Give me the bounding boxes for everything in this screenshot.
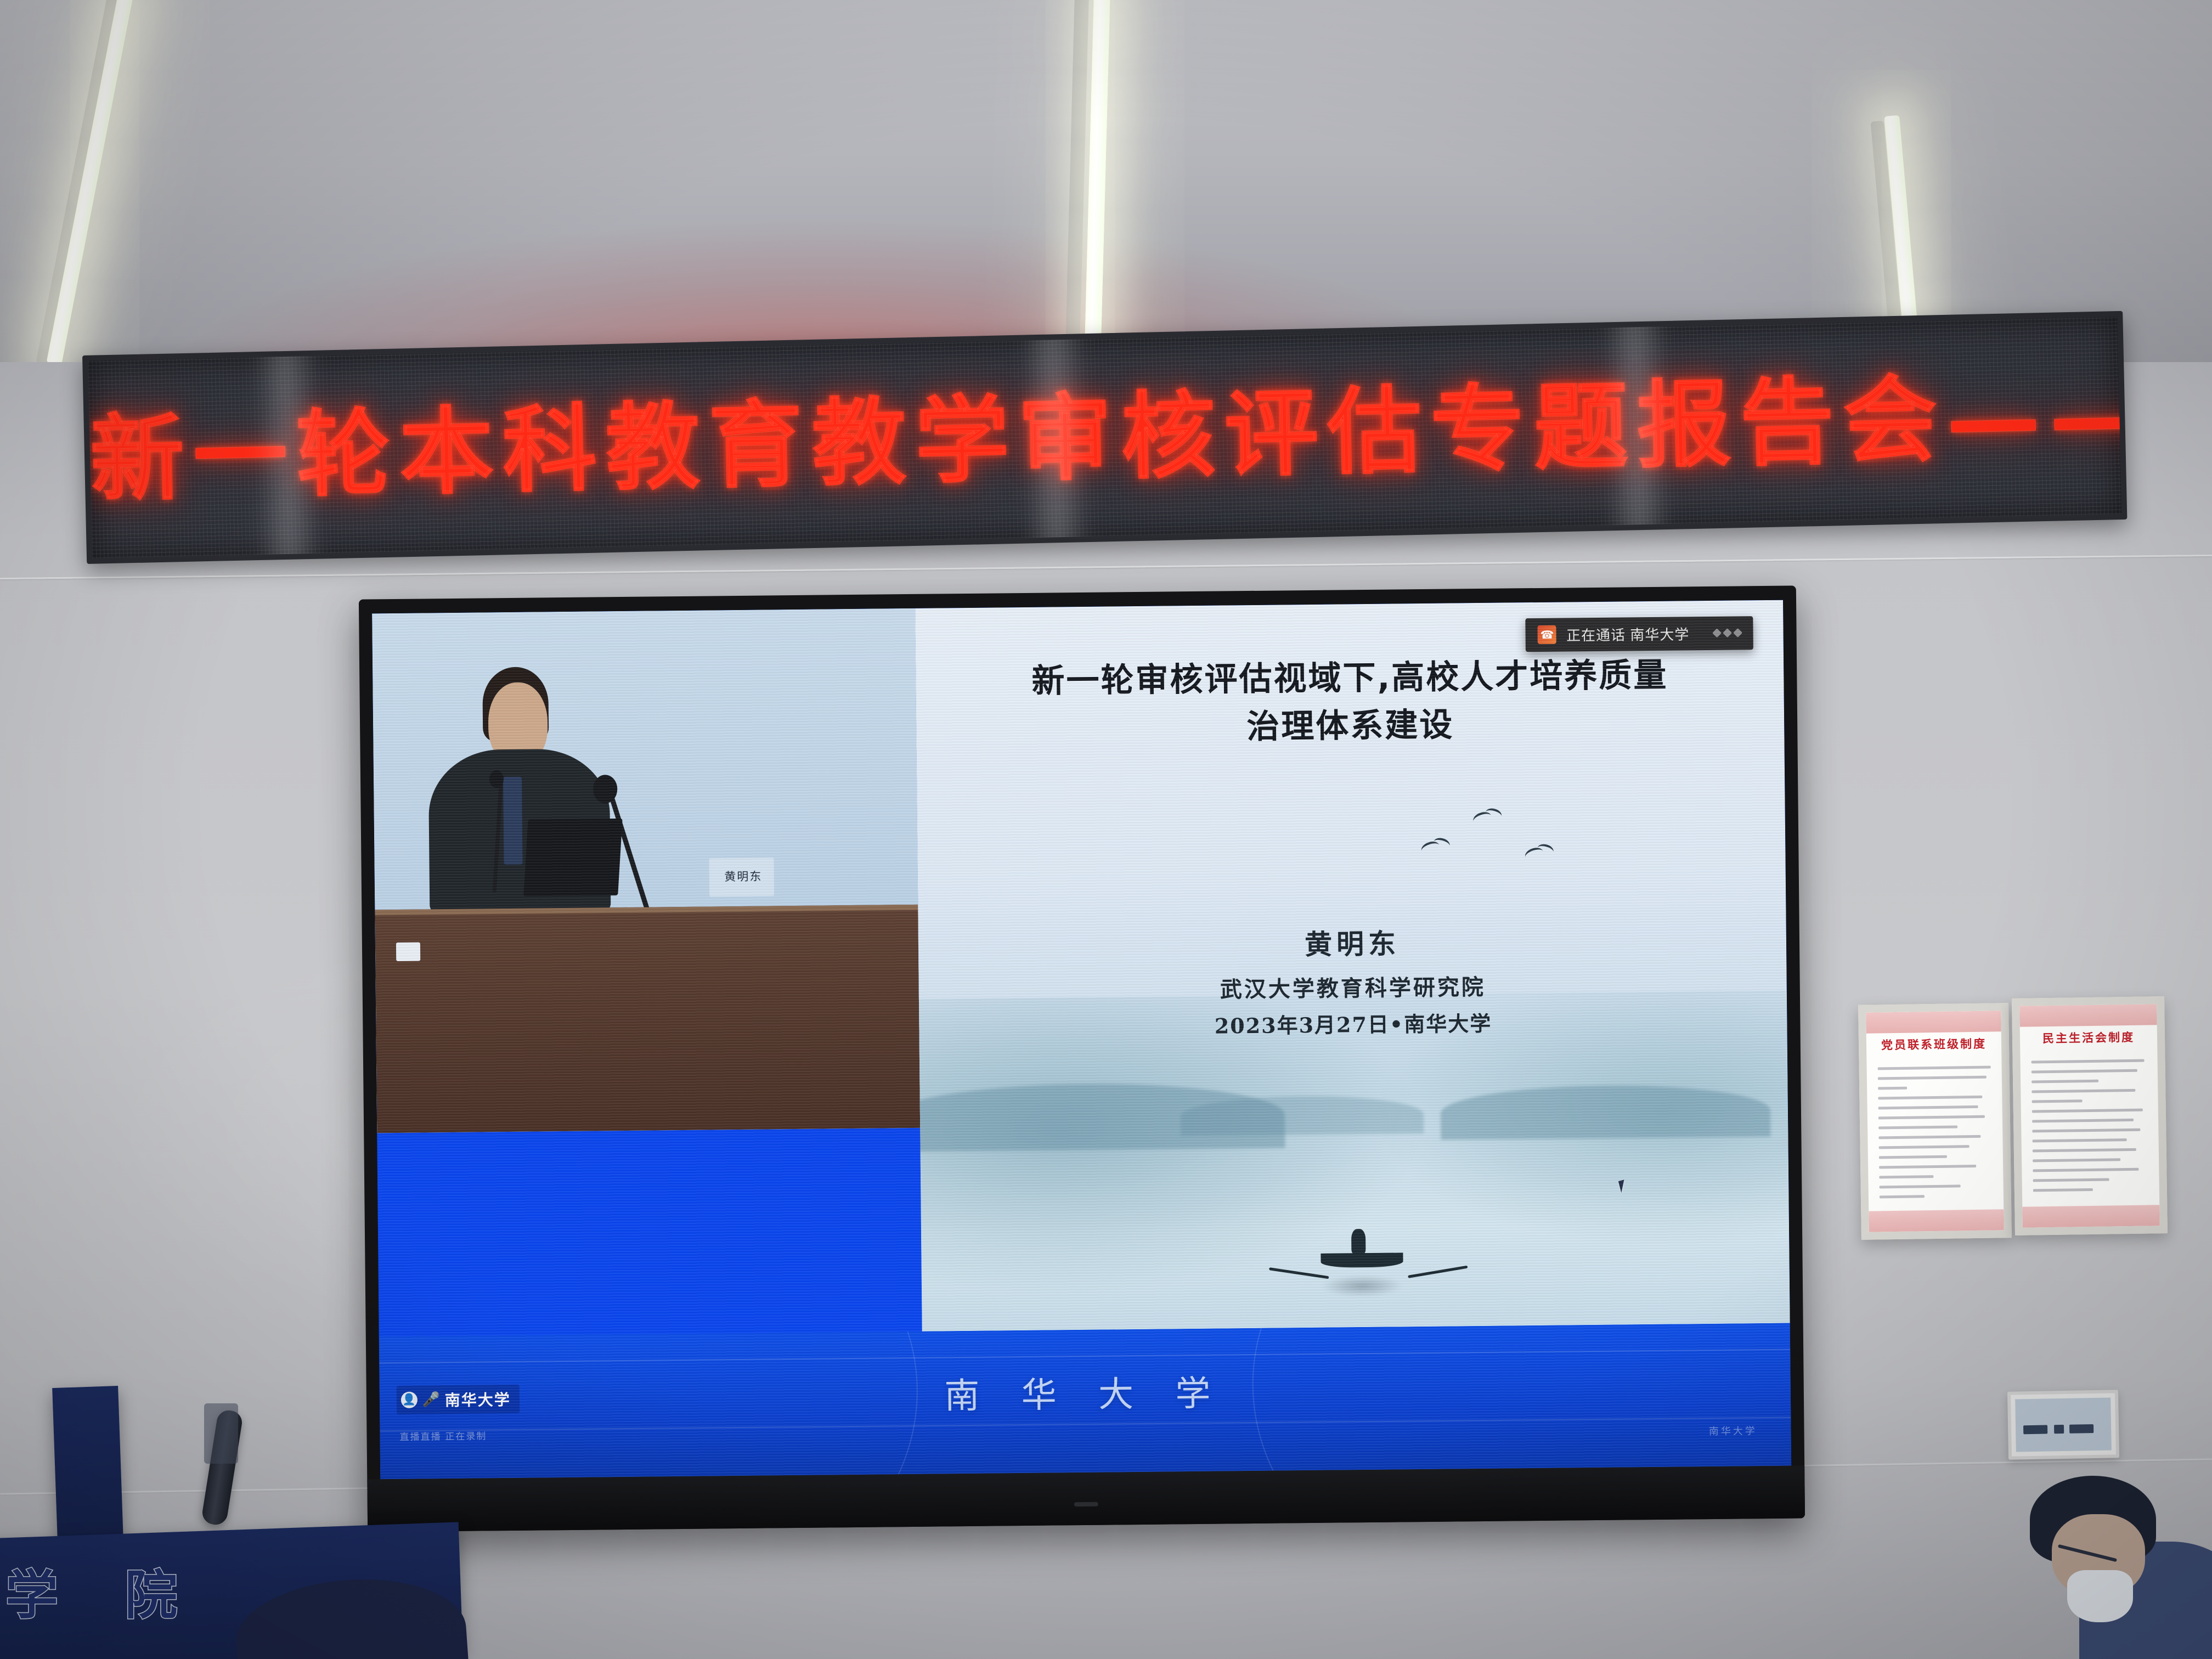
display-power-led bbox=[1074, 1502, 1098, 1506]
phone-icon: ☎ bbox=[1538, 625, 1556, 644]
poster-2-top-band bbox=[2019, 1004, 2157, 1026]
slide-title-line-1: 新一轮审核评估视域下,高校人才培养质量 bbox=[950, 651, 1749, 707]
participant-label[interactable]: 👤 🎤 南华大学 bbox=[397, 1385, 520, 1414]
venue-label-left: 学 院 bbox=[5, 1553, 201, 1629]
call-status-text: 正在通话 南华大学 bbox=[1566, 623, 1690, 645]
speaker-tie bbox=[503, 777, 523, 865]
footer-brand: 南华大学 bbox=[1709, 1423, 1757, 1438]
microphone-icon: 🎤 bbox=[424, 1391, 438, 1408]
slide-affiliation: 武汉大学教育科学研究院 bbox=[919, 966, 1787, 1006]
led-glare-3 bbox=[1601, 311, 1673, 558]
equipment-panel-left bbox=[52, 1386, 123, 1542]
boat-oar-right bbox=[1408, 1265, 1468, 1278]
slide-title-line-2: 治理体系建设 bbox=[951, 699, 1750, 754]
poster-2-body bbox=[2032, 1059, 2148, 1199]
poster-2-bottom-band bbox=[2022, 1205, 2160, 1227]
slide-ink-painting bbox=[919, 990, 1790, 1331]
control-switch-2[interactable] bbox=[2054, 1425, 2064, 1434]
microphone-wall-clip bbox=[204, 1403, 238, 1464]
led-banner: 新一轮本科教育教学审核评估专题报告会——药学院分会场 bbox=[82, 311, 2127, 564]
more-options-icon[interactable] bbox=[1713, 630, 1741, 636]
ink-bird-3 bbox=[1523, 845, 1545, 863]
wall-control-panel[interactable] bbox=[2007, 1390, 2119, 1460]
podium-logo-icon bbox=[396, 943, 420, 961]
ink-boat bbox=[1321, 1252, 1403, 1267]
led-glare-1 bbox=[252, 334, 323, 564]
speaker-right-mic-head bbox=[593, 775, 617, 803]
slide-author-block: 黄明东 武汉大学教育科学研究院 2023年3月27日•南华大学 bbox=[918, 918, 1787, 1042]
wall-poster-1: 党员联系班级制度 bbox=[1858, 1003, 2012, 1240]
speaker-nameplate-text: 黄明东 bbox=[714, 867, 773, 884]
poster-1-bottom-band bbox=[1869, 1209, 2004, 1232]
shared-slide-tile[interactable]: 新一轮审核评估视域下,高校人才培养质量 治理体系建设 黄明东 武汉大学教育科学研… bbox=[915, 600, 1790, 1331]
led-glare-2 bbox=[1020, 317, 1091, 564]
poster-1-title: 党员联系班级制度 bbox=[1875, 1035, 1994, 1053]
slide-title: 新一轮审核评估视域下,高校人才培养质量 治理体系建设 bbox=[950, 651, 1750, 754]
display-screen[interactable]: 黄明东 新一 bbox=[372, 600, 1791, 1480]
photo-scene: 新一轮本科教育教学审核评估专题报告会——药学院分会场 党员联系班级制度 民主生活… bbox=[0, 0, 2212, 1659]
call-status-toast[interactable]: ☎ 正在通话 南华大学 bbox=[1526, 616, 1753, 652]
boat-reflection bbox=[1321, 1274, 1403, 1297]
podium-desk bbox=[375, 905, 920, 1133]
meeting-footer: 南 华 大 学 南华大学 bbox=[379, 1323, 1791, 1479]
slide-presenter-name: 黄明东 bbox=[918, 918, 1786, 966]
attendee-face-mask bbox=[2067, 1570, 2133, 1622]
participant-name: 南华大学 bbox=[445, 1388, 511, 1410]
person-icon: 👤 bbox=[401, 1391, 417, 1408]
attendee-person bbox=[1970, 1481, 2211, 1659]
speaker-left-mic-head bbox=[489, 770, 504, 788]
recording-meta-text: 直播直播 正在录制 bbox=[399, 1428, 487, 1443]
poster-1-body bbox=[1877, 1066, 1993, 1206]
boat-oar-left bbox=[1269, 1267, 1329, 1279]
control-switch-3[interactable] bbox=[2069, 1424, 2093, 1434]
speaker-laptop bbox=[523, 819, 622, 896]
wall-poster-2: 民主生活会制度 bbox=[2012, 996, 2168, 1235]
control-switch-1[interactable] bbox=[2023, 1425, 2047, 1435]
speaker-video-tile[interactable]: 黄明东 bbox=[372, 608, 920, 1133]
wall-display[interactable]: 黄明东 新一 bbox=[359, 585, 1805, 1532]
poster-1-top-band bbox=[1866, 1011, 2001, 1033]
poster-2-title: 民主生活会制度 bbox=[2028, 1028, 2149, 1046]
ink-bird-1 bbox=[1419, 839, 1441, 857]
ink-bird-2 bbox=[1471, 810, 1493, 827]
ink-hill-right bbox=[1441, 1084, 1771, 1140]
